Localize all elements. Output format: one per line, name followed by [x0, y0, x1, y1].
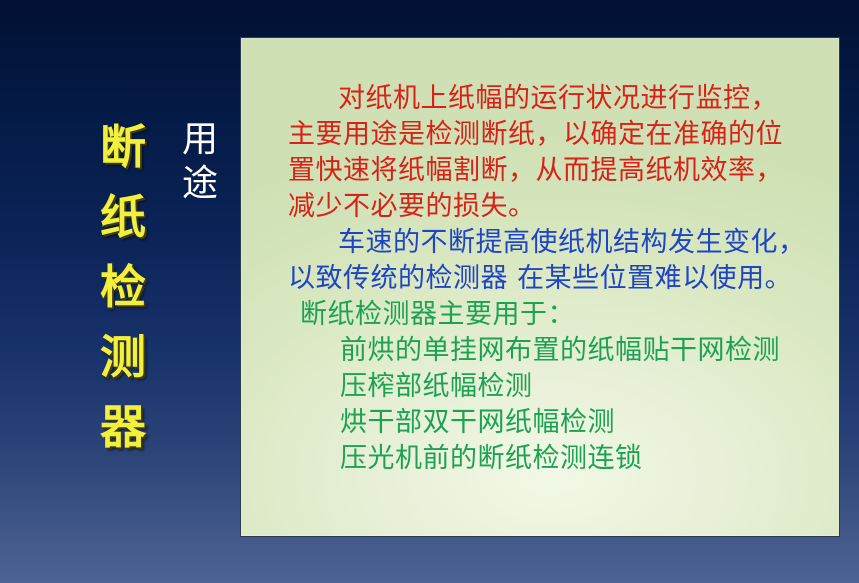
blue-line-1: 车速的不断提高使纸机结构发生变化， — [288, 225, 833, 261]
red-line-1: 对纸机上纸幅的运行状况进行监控， — [288, 81, 833, 117]
green-item-4: 压光机前的断纸检测连锁 — [288, 441, 833, 477]
content-panel: 对纸机上纸幅的运行状况进行监控， 主要用途是检测断纸，以确定在准确的位 置快速将… — [240, 37, 840, 537]
green-heading: 断纸检测器主要用于： — [288, 297, 833, 333]
title-char-1: 断 — [92, 112, 154, 182]
subtitle-char-1: 用 — [176, 118, 224, 162]
slide-title-vertical: 断 纸 检 测 器 — [92, 112, 154, 462]
green-item-3: 烘干部双干网纸幅检测 — [288, 405, 833, 441]
title-char-4: 测 — [92, 322, 154, 392]
subtitle-char-2: 途 — [176, 162, 224, 206]
title-char-5: 器 — [92, 392, 154, 462]
red-line-3: 置快速将纸幅割断，从而提高纸机效率， — [288, 153, 833, 189]
title-char-2: 纸 — [92, 182, 154, 252]
green-item-1: 前烘的单挂网布置的纸幅贴干网检测 — [288, 333, 833, 369]
green-item-2: 压榨部纸幅检测 — [288, 369, 833, 405]
blue-line-2: 以致传统的检测器 在某些位置难以使用。 — [288, 261, 833, 297]
red-line-2: 主要用途是检测断纸，以确定在准确的位 — [288, 117, 833, 153]
red-line-4: 减少不必要的损失。 — [288, 189, 833, 225]
slide-canvas: 断 纸 检 测 器 用 途 对纸机上纸幅的运行状况进行监控， 主要用途是检测断纸… — [0, 0, 859, 583]
content-body: 对纸机上纸幅的运行状况进行监控， 主要用途是检测断纸，以确定在准确的位 置快速将… — [288, 81, 833, 477]
title-char-3: 检 — [92, 252, 154, 322]
slide-subtitle-vertical: 用 途 — [176, 118, 224, 206]
